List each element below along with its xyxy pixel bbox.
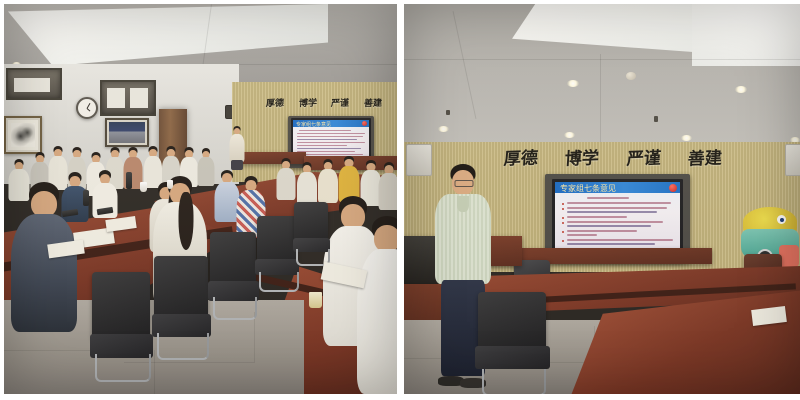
motto-char: 厚德 <box>266 95 285 109</box>
collage-gap <box>397 0 404 400</box>
polo-collar <box>457 196 469 212</box>
chair-frame <box>157 333 209 360</box>
slide-line <box>567 202 671 204</box>
photo-collage: 厚德 博学 严谨 善建 专家组七条意见 <box>0 0 800 400</box>
chair-back <box>478 292 546 352</box>
slide-line <box>567 243 655 245</box>
slide-badge-icon <box>362 121 367 126</box>
slide-line <box>567 239 673 241</box>
wall-motto-left: 厚德 博学 严谨 善建 <box>266 96 382 108</box>
wall-speaker <box>785 144 800 176</box>
ceiling-seam <box>600 54 601 146</box>
slide-line <box>567 230 637 232</box>
slide-line <box>297 148 361 149</box>
paper-cup <box>309 292 322 308</box>
downlight-icon <box>438 126 449 132</box>
slide-line <box>297 139 357 140</box>
sprinkler-icon <box>654 116 658 122</box>
chair-frame <box>95 354 150 382</box>
painting-art <box>11 123 35 147</box>
slide-line <box>567 216 627 218</box>
motto-char: 厚德 <box>503 143 539 169</box>
eyeglasses-icon <box>455 180 474 187</box>
conference-chair-foreground[interactable] <box>478 292 546 394</box>
mural-pupil <box>780 218 784 222</box>
slide-bullet-icon <box>562 240 564 242</box>
photo-left[interactable]: 厚德 博学 严谨 善建 专家组七条意见 <box>4 4 397 394</box>
paper-cup <box>140 182 147 192</box>
foreground-attendee-right-2 <box>356 216 397 394</box>
chair-back <box>92 272 150 340</box>
wall-clock-icon <box>76 97 98 119</box>
slide-line <box>567 234 597 236</box>
chair-frame <box>259 272 298 292</box>
wall-motto-right: 厚德 博学 严谨 善建 <box>504 146 722 166</box>
clock-hand <box>87 108 91 111</box>
attendee-body <box>11 214 77 332</box>
presenter-body <box>229 134 244 162</box>
wall-speaker <box>406 144 432 176</box>
chair-back <box>294 202 328 242</box>
motto-char: 博学 <box>564 143 600 169</box>
attendee-head <box>374 225 397 252</box>
slide-bullet-icon <box>562 208 564 210</box>
water-bottle <box>83 190 89 206</box>
slide-title: 专家组七条意见 <box>560 183 616 194</box>
motto-char: 严谨 <box>331 95 350 109</box>
chair-back <box>210 232 256 287</box>
slide-line <box>297 142 365 143</box>
slide-bullet-icon <box>562 203 564 205</box>
attendee-body <box>297 172 317 206</box>
slide-line <box>297 133 365 134</box>
attendee-ponytail <box>178 192 193 250</box>
mural-accent <box>779 245 799 267</box>
motto-char: 善建 <box>687 143 723 169</box>
chair-back <box>257 216 297 263</box>
attendee <box>296 162 317 206</box>
attendee-body <box>277 168 296 200</box>
group-photo-frame <box>105 118 149 147</box>
motto-char: 博学 <box>298 95 317 109</box>
slide-line <box>567 211 657 213</box>
conference-chair[interactable] <box>257 216 297 292</box>
slide-line <box>567 221 663 223</box>
notice-board <box>6 68 62 100</box>
slide-bullet-icon <box>562 222 564 224</box>
attendee <box>276 158 296 200</box>
presenter-legs <box>231 160 243 170</box>
ceiling-light-strip <box>692 4 800 66</box>
notice-sheet <box>107 88 125 108</box>
conference-chair[interactable] <box>154 256 208 360</box>
water-bottle <box>126 172 132 189</box>
slide-line <box>299 130 351 131</box>
slide-right[interactable]: 专家组七条意见 <box>555 182 680 250</box>
downlight-icon <box>567 80 579 87</box>
chair-frame <box>482 369 546 394</box>
paper-cup <box>167 180 173 189</box>
slide-bullet-icon <box>562 217 564 219</box>
slide-badge-icon <box>669 184 677 192</box>
motto-char: 善建 <box>363 95 382 109</box>
slide-line <box>567 207 667 209</box>
chair-back <box>154 256 208 320</box>
downlight-icon <box>681 135 692 141</box>
slide-line <box>587 197 629 199</box>
chair-frame <box>213 297 257 320</box>
slide-bullet-icon <box>562 231 564 233</box>
downlight-icon <box>564 132 575 138</box>
presenter-left <box>228 126 245 170</box>
conference-chair[interactable] <box>92 272 150 382</box>
sprinkler-icon <box>446 110 450 115</box>
ink-landscape-painting <box>4 116 42 154</box>
downlight-icon <box>735 86 747 93</box>
notice-sheet <box>14 78 50 92</box>
photo-right[interactable]: 厚德 博学 严谨 善建 专家组七条意见 <box>404 4 800 394</box>
motto-char: 严谨 <box>626 143 662 169</box>
foreground-attendee-left <box>10 182 78 332</box>
slide-line <box>567 225 651 227</box>
conference-chair[interactable] <box>210 232 256 320</box>
chair-seat <box>475 346 550 369</box>
notice-board <box>100 80 156 116</box>
conference-chair[interactable] <box>294 202 328 266</box>
notice-sheet <box>130 88 148 108</box>
group-photo-art <box>109 122 145 143</box>
slide-line <box>297 145 347 146</box>
slide-title: 专家组七条意见 <box>296 121 331 128</box>
smoke-detector-icon <box>626 72 636 80</box>
slide-line <box>297 136 363 137</box>
